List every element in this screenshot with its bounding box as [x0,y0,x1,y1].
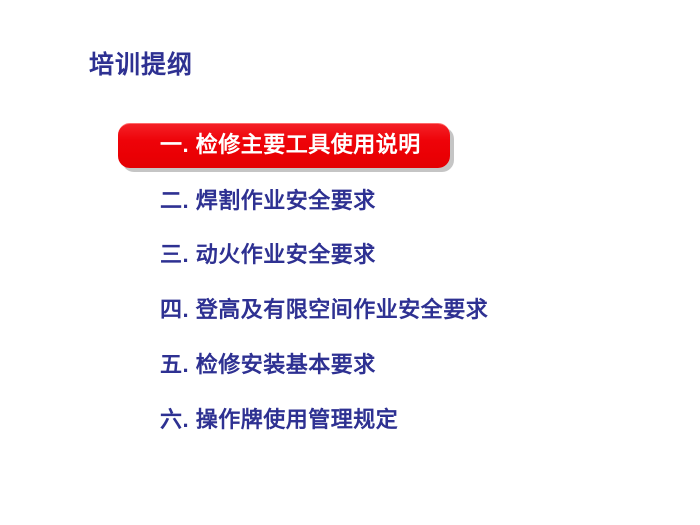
outline-item-label: 四. 登高及有限空间作业安全要求 [160,285,488,331]
page-title: 培训提纲 [89,50,193,80]
outline-item-4[interactable]: 四. 登高及有限空间作业安全要求 [0,285,700,331]
outline-item-label: 二. 焊割作业安全要求 [160,176,376,222]
outline-item-2[interactable]: 二. 焊割作业安全要求 [0,176,700,222]
outline-item-1[interactable]: 一. 检修主要工具使用说明 [0,120,700,166]
outline-item-6[interactable]: 六. 操作牌使用管理规定 [0,395,700,441]
outline-item-label: 五. 检修安装基本要求 [160,340,376,386]
outline-item-3[interactable]: 三. 动火作业安全要求 [0,230,700,276]
outline-item-label: 一. 检修主要工具使用说明 [160,120,421,166]
outline-item-label: 三. 动火作业安全要求 [160,230,376,276]
outline-item-5[interactable]: 五. 检修安装基本要求 [0,340,700,386]
slide-canvas: 培训提纲 一. 检修主要工具使用说明 二. 焊割作业安全要求 三. 动火作业安全… [0,0,700,525]
outline-item-label: 六. 操作牌使用管理规定 [160,395,398,441]
